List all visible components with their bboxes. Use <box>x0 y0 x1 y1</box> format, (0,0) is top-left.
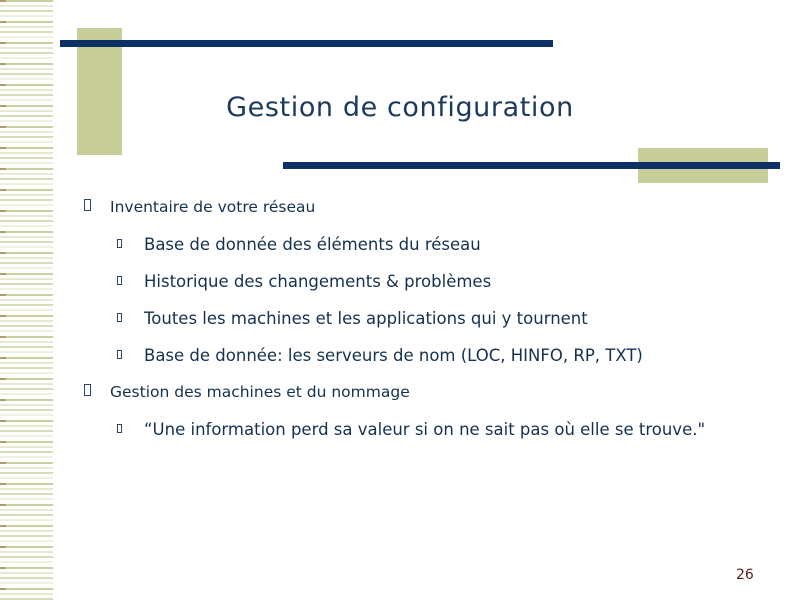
list-item: Gestion des machines et du nommage <box>0 383 800 420</box>
slide-title: Gestion de configuration <box>0 92 800 123</box>
list-item: Historique des changements & problèmes <box>0 272 800 309</box>
bullet-box-icon <box>117 239 122 248</box>
list-item-label: Base de donnée: les serveurs de nom (LOC… <box>144 346 643 365</box>
list-item: Inventaire de votre réseau <box>0 198 800 235</box>
presentation-slide: Gestion de configuration Inventaire de v… <box>0 0 800 600</box>
list-item: Base de donnée des éléments du réseau <box>0 235 800 272</box>
slide-page-number: 26 <box>736 567 776 583</box>
list-item: Toutes les machines et les applications … <box>0 309 800 346</box>
decorative-navy-rule-top <box>60 40 553 47</box>
list-item: Base de donnée: les serveurs de nom (LOC… <box>0 346 800 383</box>
decorative-navy-rule-bottom <box>283 162 780 169</box>
bullet-box-icon <box>117 313 122 322</box>
list-item-label: “Une information perd sa valeur si on ne… <box>144 420 705 439</box>
bullet-box-icon <box>117 350 122 359</box>
list-item-label: Inventaire de votre réseau <box>110 198 315 216</box>
list-item-label: Base de donnée des éléments du réseau <box>144 235 481 254</box>
list-item-label: Historique des changements & problèmes <box>144 272 491 291</box>
list-item-label: Toutes les machines et les applications … <box>144 309 588 328</box>
slide-body-content: Inventaire de votre réseau Base de donné… <box>0 198 800 457</box>
bullet-box-icon <box>84 199 91 211</box>
list-item-label: Gestion des machines et du nommage <box>110 383 410 401</box>
bullet-box-icon <box>117 276 122 285</box>
bullet-box-icon <box>84 384 91 396</box>
list-item: “Une information perd sa valeur si on ne… <box>0 420 800 457</box>
bullet-box-icon <box>117 424 122 433</box>
